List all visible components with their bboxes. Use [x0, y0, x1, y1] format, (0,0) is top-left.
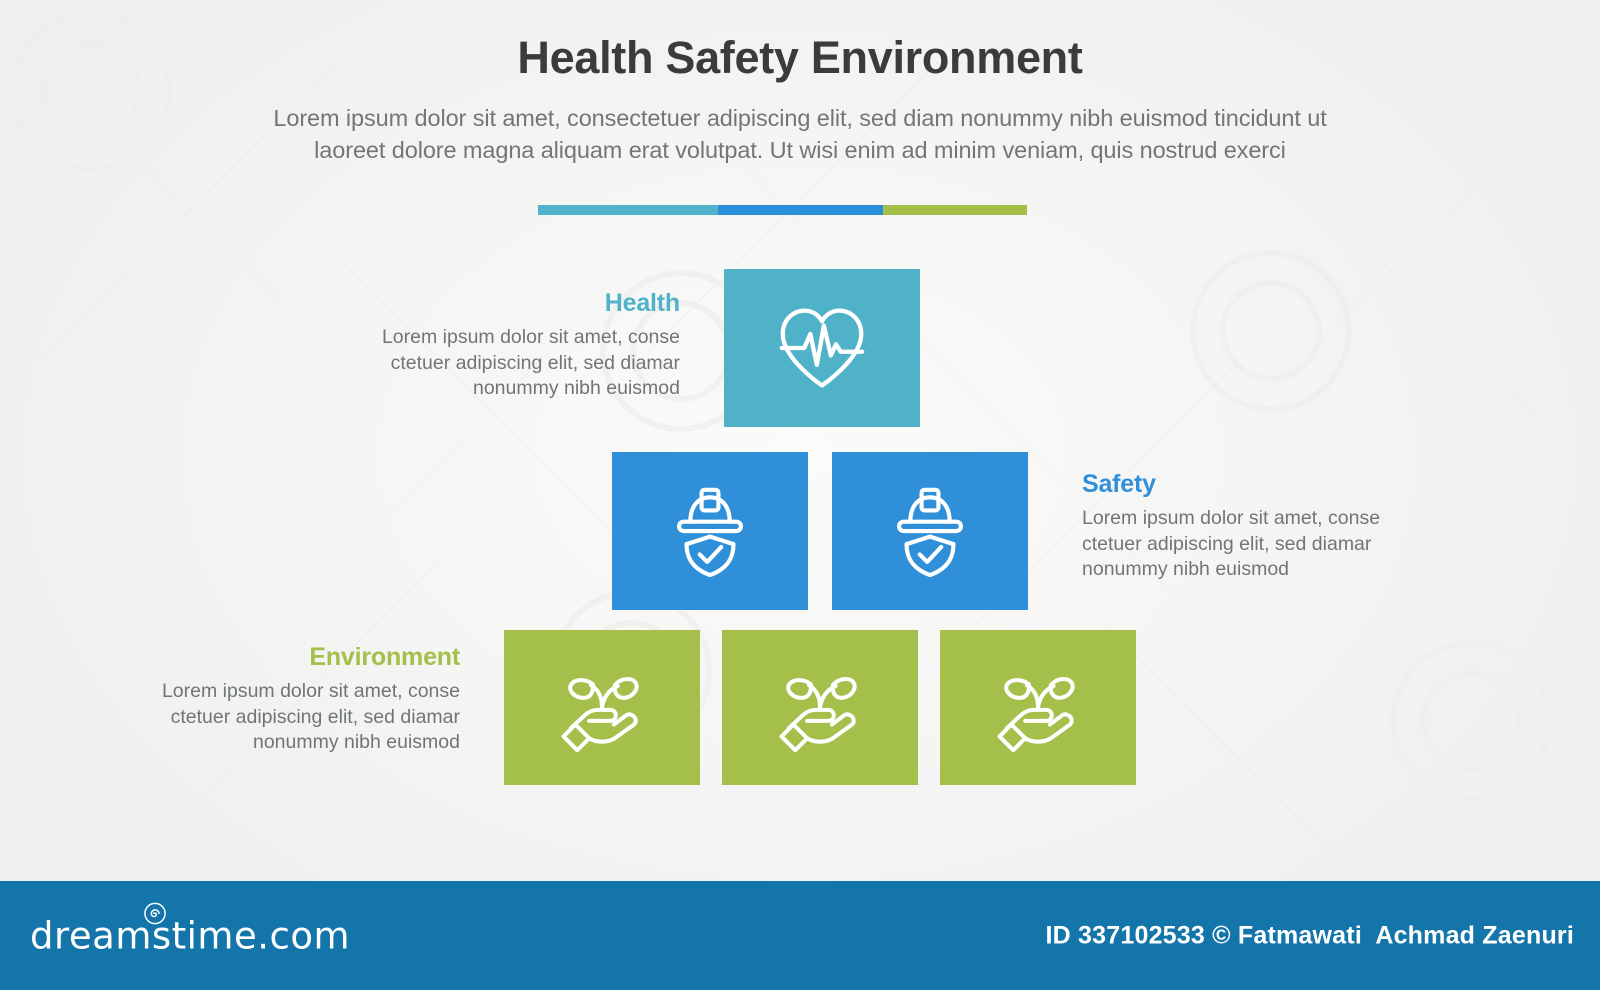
- section-body-environment: Lorem ipsum dolor sit amet, conse ctetue…: [100, 679, 460, 756]
- section-title-health: Health: [320, 289, 680, 318]
- hardhat-shield-check-icon: [665, 484, 755, 578]
- label-block-health: Health Lorem ipsum dolor sit amet, conse…: [320, 289, 680, 402]
- dreamstime-logo[interactable]: dreamstime.com: [30, 914, 350, 957]
- heart-pulse-icon: [775, 305, 869, 391]
- hardhat-shield-check-icon: [885, 484, 975, 578]
- label-block-environment: Environment Lorem ipsum dolor sit amet, …: [100, 643, 460, 756]
- pyramid-diagram: Health Lorem ipsum dolor sit amet, conse…: [0, 0, 1600, 990]
- tile-safety-1[interactable]: [612, 452, 808, 610]
- tile-health-1[interactable]: [724, 269, 920, 427]
- hand-sprout-icon: [992, 664, 1084, 752]
- tile-environment-1[interactable]: [504, 630, 700, 785]
- section-title-safety: Safety: [1082, 470, 1442, 499]
- section-body-safety: Lorem ipsum dolor sit amet, conse ctetue…: [1082, 506, 1442, 583]
- spiral-icon: [144, 902, 166, 929]
- hand-sprout-icon: [556, 664, 648, 752]
- tile-safety-2[interactable]: [832, 452, 1028, 610]
- section-title-environment: Environment: [100, 643, 460, 672]
- logo-text: dreamstime.com: [30, 914, 350, 957]
- label-block-safety: Safety Lorem ipsum dolor sit amet, conse…: [1082, 470, 1442, 583]
- hand-sprout-icon: [774, 664, 866, 752]
- tile-environment-3[interactable]: [940, 630, 1136, 785]
- section-body-health: Lorem ipsum dolor sit amet, conse ctetue…: [320, 325, 680, 402]
- image-credit: ID 337102533 © Fatmawati Achmad Zaenuri: [1046, 921, 1574, 950]
- tile-environment-2[interactable]: [722, 630, 918, 785]
- footer-bar: dreamstime.com ID 337102533 © Fatmawati …: [0, 881, 1600, 990]
